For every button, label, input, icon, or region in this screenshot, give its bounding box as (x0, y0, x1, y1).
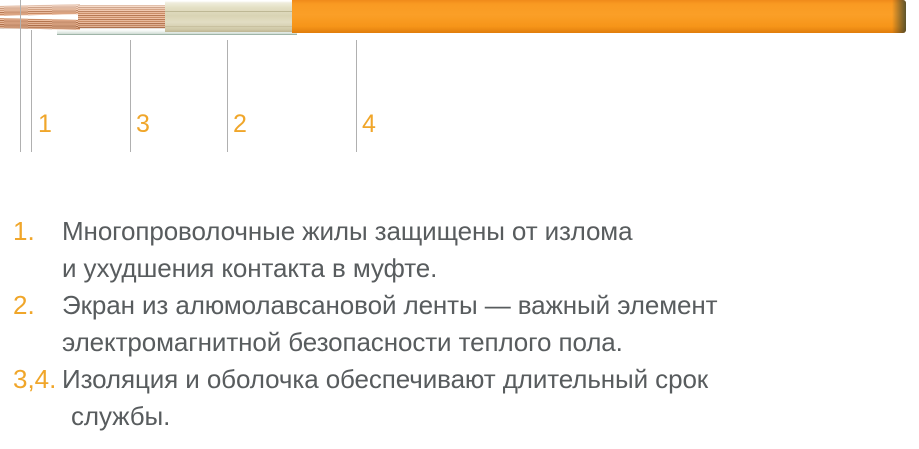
list-item-marker: 2. (0, 287, 62, 324)
leader-line-extra (20, 0, 21, 152)
list-item-text: Изоляция и оболочка обеспечивают длитель… (62, 361, 708, 435)
outer-sheath-layer (292, 0, 906, 33)
cable-layer-stack (0, 0, 919, 40)
list-item-marker: 1. (0, 213, 62, 250)
list-item-line: электромагнитной безопасности теплого по… (62, 324, 717, 361)
leader-line-2 (227, 40, 228, 152)
list-item-marker: 3,4. (0, 361, 62, 398)
legend-list: 1. Многопроволочные жилы защищены от изл… (0, 213, 919, 435)
list-item-text: Экран из алюмолавсановой ленты — важный … (62, 287, 717, 361)
copper-strand-bundle-upper (0, 4, 80, 16)
leader-line-1 (31, 30, 32, 152)
leader-line-4 (356, 40, 357, 152)
callout-number-1: 1 (38, 112, 52, 137)
callout-number-3: 3 (136, 112, 150, 137)
list-item-line: Многопроволочные жилы защищены от излома (62, 213, 632, 250)
insulation-seam-top (165, 11, 295, 12)
copper-strand-bundle-merged (78, 5, 168, 28)
insulation-layer (165, 1, 295, 32)
list-item: 2. Экран из алюмолавсановой ленты — важн… (0, 287, 919, 361)
list-item-line: Экран из алюмолавсановой ленты — важный … (62, 287, 717, 324)
list-item-text: Многопроволочные жилы защищены от излома… (62, 213, 632, 287)
leader-line-3 (130, 40, 131, 152)
list-item-line: службы. (62, 398, 708, 435)
copper-strand-bundle-lower (0, 18, 80, 30)
callout-number-4: 4 (362, 112, 376, 137)
list-item-line: и ухудшения контакта в муфте. (62, 250, 632, 287)
cable-cross-section-diagram: 1 3 2 4 (0, 0, 919, 175)
callout-number-2: 2 (233, 112, 247, 137)
insulation-seam-bottom (165, 26, 295, 27)
list-item: 3,4. Изоляция и оболочка обеспечивают дл… (0, 361, 919, 435)
list-item: 1. Многопроволочные жилы защищены от изл… (0, 213, 919, 287)
list-item-line: Изоляция и оболочка обеспечивают длитель… (62, 361, 708, 398)
